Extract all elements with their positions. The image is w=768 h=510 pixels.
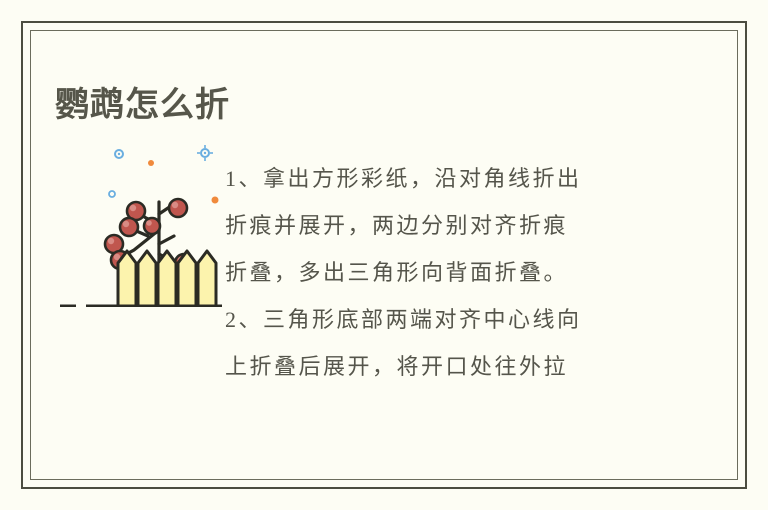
fence-picket — [118, 251, 136, 306]
instruction-text-block: 1、拿出方形彩纸，沿对角线折出 折痕并展开，两边分别对齐折痕 折叠，多出三角形向… — [225, 155, 665, 390]
berry — [120, 218, 138, 236]
instruction-line: 折痕并展开，两边分别对齐折痕 — [225, 202, 665, 249]
page-title: 鹦鹉怎么折 — [55, 85, 230, 125]
illustration-berry-plant-fence — [56, 132, 226, 307]
instruction-line: 折叠，多出三角形向背面折叠。 — [225, 249, 665, 296]
fence-picket — [178, 251, 196, 306]
page-content: 鹦鹉怎么折 — [30, 30, 738, 480]
sparkle-dot-icon — [148, 160, 154, 166]
instruction-line: 上折叠后展开，将开口处往外拉 — [225, 343, 665, 390]
sparkle-small-ring-icon — [109, 191, 115, 197]
instruction-line: 2、三角形底部两端对齐中心线向 — [225, 296, 665, 343]
instruction-line: 1、拿出方形彩纸，沿对角线折出 — [225, 155, 665, 202]
fence-picket — [158, 251, 176, 306]
berry — [144, 218, 160, 234]
sparkle-ring-core-icon — [118, 153, 120, 155]
berry — [169, 199, 187, 217]
fence-picket — [138, 251, 156, 306]
sparkle-group — [109, 145, 219, 265]
sparkle-dot-2-icon — [212, 197, 219, 204]
illustration-svg — [56, 132, 226, 307]
sparkle-flower-icon — [197, 145, 213, 161]
fence-picket — [198, 251, 216, 306]
picket-fence — [118, 251, 216, 306]
article-page: 鹦鹉怎么折 — [0, 0, 768, 510]
